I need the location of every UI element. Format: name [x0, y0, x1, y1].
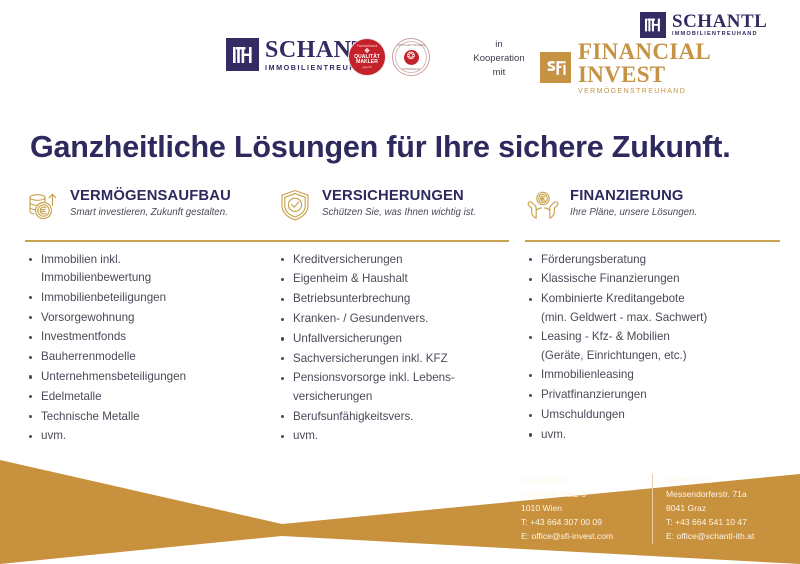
ith-monogram-icon: [640, 12, 666, 38]
list-item: Kreditversicherungen: [277, 251, 525, 269]
list-item-text: Umschuldungen: [541, 408, 625, 421]
service-column-vermoegensaufbau: VERMÖGENSAUFBAU Smart investieren, Zukun…: [25, 186, 277, 447]
cooperation-line-2: Kooperation: [462, 52, 536, 66]
column-header: VERSICHERUNGEN Schützen Sie, was Ihnen w…: [277, 186, 525, 232]
list-item-text: Eigenheim & Haushalt: [293, 272, 408, 285]
column-subtitle: Schützen Sie, was Ihnen wichtig ist.: [322, 207, 476, 219]
brand-subtitle-top-right: IMMOBILIENTREUHAND: [672, 32, 767, 38]
list-item: Unternehmensbeteiligungen: [25, 368, 277, 386]
list-item-text: Pensionsvorsorge inkl. Lebens-: [293, 371, 455, 384]
list-item: Klassische Finanzierungen: [525, 270, 780, 288]
column-divider: [525, 240, 780, 242]
list-item-cont: Immobilienbewertung: [41, 269, 277, 287]
column-title: FINANZIERUNG: [570, 188, 697, 205]
list-item: Vorsorgewohnung: [25, 309, 277, 327]
list-item-text: Kranken- / Gesundenvers.: [293, 312, 428, 325]
seal-ring: WIRTSCHAFTSKAMMER ❂ OSTERREICH: [395, 41, 427, 73]
sfi-wordmark: FINANCIAL INVEST VERMÖGENSTREUHAND: [578, 40, 800, 95]
list-item-text: Vorsorgewohnung: [41, 311, 134, 324]
list-item-text: Betriebsunterbrechung: [293, 292, 410, 305]
list-item-text: Technische Metalle: [41, 410, 140, 423]
seal-top-text: WIRTSCHAFTSKAMMER: [394, 44, 427, 47]
office-city: 8041 Graz: [666, 502, 754, 516]
column-title-group: VERMÖGENSAUFBAU Smart investieren, Zukun…: [70, 186, 231, 219]
column-title-group: VERSICHERUNGEN Schützen Sie, was Ihnen w…: [322, 186, 476, 219]
list-item: Immobilienleasing: [525, 366, 780, 384]
service-list: Immobilien inkl.Immobilienbewertung Immo…: [25, 251, 277, 446]
list-item-cont: versicherungen: [293, 388, 525, 406]
service-columns: VERMÖGENSAUFBAU Smart investieren, Zukun…: [25, 186, 780, 447]
list-item: Betriebsunterbrechung: [277, 290, 525, 308]
sfi-monogram-icon: [540, 52, 571, 83]
cooperation-line-1: in: [462, 38, 536, 52]
office-email[interactable]: E: office@schantl-ith.at: [666, 530, 754, 544]
service-list: Förderungsberatung Klassische Finanzieru…: [525, 251, 780, 445]
service-column-versicherungen: VERSICHERUNGEN Schützen Sie, was Ihnen w…: [277, 186, 525, 447]
list-item-text: Kombinierte Kreditangebote: [541, 292, 685, 305]
list-item: Technische Metalle: [25, 408, 277, 426]
sfi-brand-name: FINANCIAL INVEST: [578, 40, 800, 86]
column-title: VERMÖGENSAUFBAU: [70, 188, 231, 205]
office-street: Passauer Platz 6: [521, 488, 652, 502]
list-item: Sachversicherungen inkl. KFZ: [277, 350, 525, 368]
column-subtitle: Ihre Pläne, unsere Lösungen.: [570, 207, 697, 219]
brand-logo-schantl-top-right: SCHANTL IMMOBILIENTREUHAND: [640, 12, 767, 38]
logo-bar: SCHANTL IMMOBILIENTREUHAND Fachverband ❖…: [0, 0, 800, 100]
coins-euro-growth-icon: [25, 187, 61, 223]
footer-office-wien: Office Wien: Passauer Platz 6 1010 Wien …: [521, 474, 652, 544]
service-list: Kreditversicherungen Eigenheim & Haushal…: [277, 251, 525, 446]
office-label: Office Wien:: [521, 474, 652, 488]
list-item: Umschuldungen: [525, 406, 780, 424]
office-phone[interactable]: T: +43 664 541 10 47: [666, 516, 754, 530]
list-item: Privatfinanzierungen: [525, 386, 780, 404]
quality-makler-seal-icon: Fachverband ❖ QUALITÄT MAKLER geprüft: [348, 38, 386, 76]
column-header: FINANZIERUNG Ihre Pläne, unsere Lösungen…: [525, 186, 780, 232]
cooperation-line-3: mit: [462, 66, 536, 80]
column-subtitle: Smart investieren, Zukunft gestalten.: [70, 207, 231, 219]
list-item-text: Investmentfonds: [41, 330, 126, 343]
list-item: Bauherrenmodelle: [25, 348, 277, 366]
sfi-brand-subtitle: VERMÖGENSTREUHAND: [578, 88, 800, 95]
list-item: Unfallversicherungen: [277, 330, 525, 348]
list-item-text: uvm.: [541, 428, 566, 441]
office-phone[interactable]: T: +43 664 307 00 09: [521, 516, 652, 530]
list-item-text: Immobilienleasing: [541, 368, 634, 381]
list-item: Immobilien inkl.Immobilienbewertung: [25, 251, 277, 288]
brand-wordmark-top-right: SCHANTL IMMOBILIENTREUHAND: [672, 12, 767, 38]
office-email[interactable]: E: office@sfi-invest.com: [521, 530, 652, 544]
poster-canvas: SCHANTL IMMOBILIENTREUHAND Fachverband ❖…: [0, 0, 800, 564]
list-item-text: Förderungsberatung: [541, 253, 646, 266]
seal-bottom-text: OSTERREICH: [401, 68, 420, 71]
list-item: Immobilienbeteiligungen: [25, 289, 277, 307]
column-divider: [277, 240, 509, 242]
list-item: Pensionsvorsorge inkl. Lebens-versicheru…: [277, 369, 525, 406]
list-item: Leasing - Kfz- & Mobilien(Geräte, Einric…: [525, 328, 780, 365]
brand-name-top-right: SCHANTL: [672, 12, 767, 31]
office-city: 1010 Wien: [521, 502, 652, 516]
list-item-text: Privatfinanzierungen: [541, 388, 647, 401]
wko-seal-icon: WIRTSCHAFTSKAMMER ❂ OSTERREICH: [392, 38, 430, 76]
list-item-text: Sachversicherungen inkl. KFZ: [293, 352, 448, 365]
list-item-text: Unternehmensbeteiligungen: [41, 370, 186, 383]
page-headline: Ganzheitliche Lösungen für Ihre sichere …: [30, 130, 775, 165]
list-item-text: Immobilien inkl.: [41, 253, 121, 266]
list-item-text: Berufsunfähigkeitsvers.: [293, 410, 414, 423]
service-column-finanzierung: FINANZIERUNG Ihre Pläne, unsere Lösungen…: [525, 186, 780, 447]
seal-emblem-icon: ❂: [404, 50, 419, 65]
column-divider: [25, 240, 277, 242]
cooperation-label: in Kooperation mit: [462, 38, 536, 79]
list-item-text: Klassische Finanzierungen: [541, 272, 680, 285]
brand-logo-financial-invest: FINANCIAL INVEST VERMÖGENSTREUHAND: [540, 40, 800, 95]
list-item: Eigenheim & Haushalt: [277, 270, 525, 288]
list-item: Investmentfonds: [25, 328, 277, 346]
list-item: Kranken- / Gesundenvers.: [277, 310, 525, 328]
list-item: Edelmetalle: [25, 388, 277, 406]
hands-holding-coin-icon: [525, 187, 561, 223]
list-item-text: Edelmetalle: [41, 390, 102, 403]
list-item: Förderungsberatung: [525, 251, 780, 269]
column-title-group: FINANZIERUNG Ihre Pläne, unsere Lösungen…: [570, 186, 697, 219]
list-item-text: Unfallversicherungen: [293, 332, 402, 345]
list-item-cont: (min. Geldwert - max. Sachwert): [541, 309, 780, 327]
column-header: VERMÖGENSAUFBAU Smart investieren, Zukun…: [25, 186, 277, 232]
seal-bottom-text: geprüft: [362, 66, 371, 69]
office-label: Office Graz:: [666, 474, 754, 488]
list-item-text: Kreditversicherungen: [293, 253, 403, 266]
shield-check-icon: [277, 187, 313, 223]
office-street: Messendorferstr. 71a: [666, 488, 754, 502]
footer-contact-blocks: Office Wien: Passauer Platz 6 1010 Wien …: [521, 474, 754, 544]
list-item-text: Immobilienbeteiligungen: [41, 291, 166, 304]
ith-monogram-icon: [226, 38, 259, 71]
list-item: Berufsunfähigkeitsvers.: [277, 408, 525, 426]
footer-office-graz: Office Graz: Messendorferstr. 71a 8041 G…: [652, 474, 754, 544]
list-item-text: Bauherrenmodelle: [41, 350, 136, 363]
list-item-cont: (Geräte, Einrichtungen, etc.): [541, 347, 780, 365]
list-item-text: Leasing - Kfz- & Mobilien: [541, 330, 670, 343]
column-title: VERSICHERUNGEN: [322, 188, 476, 205]
list-item: Kombinierte Kreditangebote(min. Geldwert…: [525, 290, 780, 327]
